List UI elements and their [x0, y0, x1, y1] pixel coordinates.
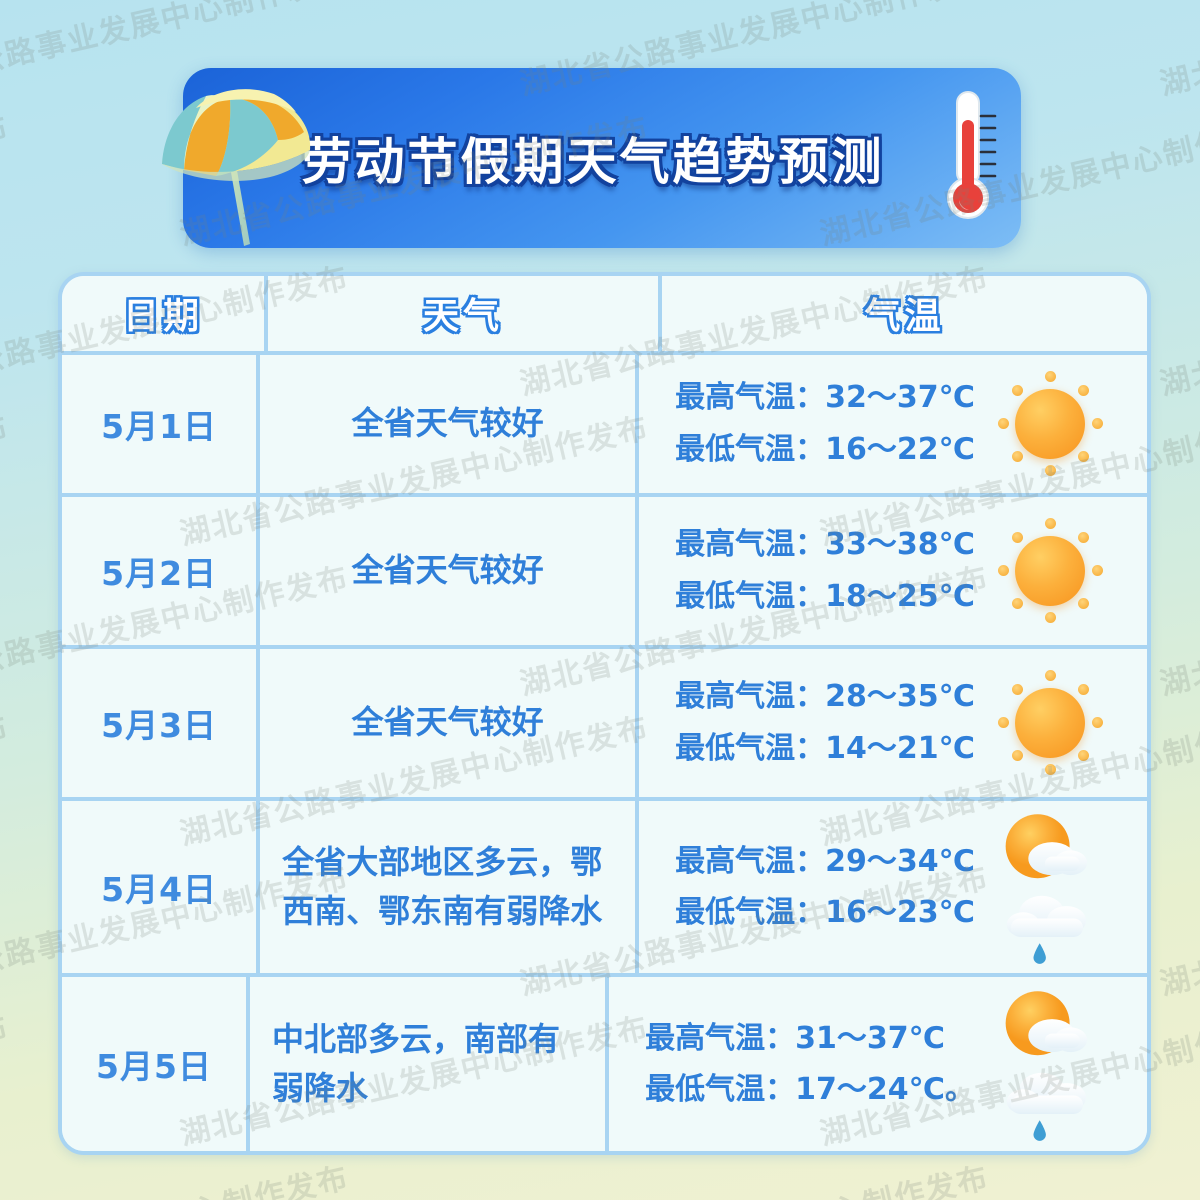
header-label-weather: 天气	[423, 287, 503, 339]
temp-high-label: 最高气温：32～37℃	[675, 372, 975, 424]
header-cell-weather: 天气	[268, 276, 662, 351]
table-row: 5月4日 全省大部地区多云，鄂西南、鄂东南有弱降水 最高气温：29～34℃ 最低…	[62, 801, 1147, 978]
date-label: 5月1日	[101, 400, 217, 448]
table-row: 5月3日 全省天气较好 最高气温：28～35℃ 最低气温：14～21℃	[62, 649, 1147, 801]
cell-date: 5月5日	[62, 977, 250, 1151]
header-label-date: 日期	[123, 287, 203, 339]
temperature-values: 最高气温：31～37℃ 最低气温：17～24℃。	[645, 1013, 975, 1116]
temp-low-label: 最低气温：17～24℃。	[645, 1064, 975, 1116]
cell-weather: 中北部多云，南部有弱降水	[250, 977, 609, 1151]
watermark-text: 湖北省公路事业发展中心制作发布	[0, 703, 13, 854]
table-header-row: 日期 天气 气温	[62, 276, 1147, 355]
cell-date: 5月2日	[62, 497, 260, 645]
watermark-text: 湖北省公路事业发展中心制作发布	[1155, 1153, 1200, 1200]
temperature-values: 最高气温：33～38℃ 最低气温：18～25℃	[675, 519, 975, 622]
watermark-text: 湖北省公路事业发展中心制作发布	[515, 1153, 993, 1200]
watermark-text: 湖北省公路事业发展中心制作发布	[1155, 853, 1200, 1004]
cell-weather: 全省大部地区多云，鄂西南、鄂东南有弱降水	[260, 801, 639, 974]
weather-icon-cell	[975, 801, 1125, 974]
sun-icon	[998, 671, 1102, 775]
weather-label: 中北部多云，南部有弱降水	[250, 1015, 605, 1114]
sun-behind-cloud-and-rain-cloud-icon	[986, 805, 1114, 970]
date-label: 5月4日	[101, 863, 217, 911]
watermark-text: 湖北省公路事业发展中心制作发布	[0, 103, 13, 254]
temp-high-label: 最高气温：28～35℃	[675, 671, 975, 723]
weather-icon-cell	[975, 977, 1125, 1151]
cell-date: 5月4日	[62, 801, 260, 974]
temperature-values: 最高气温：29～34℃ 最低气温：16～23℃	[675, 836, 975, 939]
table-row: 5月5日 中北部多云，南部有弱降水 最高气温：31～37℃ 最低气温：17～24…	[62, 977, 1147, 1151]
weather-icon-cell	[975, 497, 1125, 645]
temperature-values: 最高气温：28～35℃ 最低气温：14～21℃	[675, 671, 975, 774]
page-title: 劳动节假期天气趋势预测	[303, 118, 883, 198]
weather-label: 全省大部地区多云，鄂西南、鄂东南有弱降水	[260, 838, 635, 937]
sun-core	[1015, 688, 1085, 758]
sun-behind-cloud-and-rain-cloud-icon	[986, 982, 1114, 1147]
temp-low-label: 最低气温：16～23℃	[675, 887, 975, 939]
thermometer-icon	[945, 86, 1007, 226]
temp-high-label: 最高气温：29～34℃	[675, 836, 975, 888]
weather-label: 全省天气较好	[260, 698, 635, 748]
watermark-text: 湖北省公路事业发展中心制作发布	[0, 403, 13, 554]
cell-temperature: 最高气温：28～35℃ 最低气温：14～21℃	[639, 649, 1147, 797]
sun-core	[1015, 389, 1085, 459]
table-row: 5月2日 全省天气较好 最高气温：33～38℃ 最低气温：18～25℃	[62, 497, 1147, 649]
watermark-text: 湖北省公路事业发展中心制作发布	[1155, 553, 1200, 704]
temperature-values: 最高气温：32～37℃ 最低气温：16～22℃	[675, 372, 975, 475]
cell-temperature: 最高气温：33～38℃ 最低气温：18～25℃	[639, 497, 1147, 645]
cell-weather: 全省天气较好	[260, 497, 639, 645]
cell-weather: 全省天气较好	[260, 355, 639, 493]
watermark-text: 湖北省公路事业发展中心制作发布	[0, 1153, 353, 1200]
header-label-temperature: 气温	[864, 287, 944, 339]
date-label: 5月3日	[101, 699, 217, 747]
date-label: 5月5日	[96, 1040, 212, 1088]
header-cell-date: 日期	[62, 276, 268, 351]
watermark-text: 湖北省公路事业发展中心制作发布	[1155, 253, 1200, 404]
sun-icon	[998, 519, 1102, 623]
weather-label: 全省天气较好	[260, 546, 635, 596]
cell-date: 5月1日	[62, 355, 260, 493]
temp-low-label: 最低气温：18～25℃	[675, 571, 975, 623]
temp-low-label: 最低气温：14～21℃	[675, 723, 975, 775]
sun-icon	[998, 372, 1102, 476]
weather-label: 全省天气较好	[260, 399, 635, 449]
beach-umbrella-icon	[150, 80, 318, 250]
cell-temperature: 最高气温：29～34℃ 最低气温：16～23℃	[639, 801, 1147, 974]
table-row: 5月1日 全省天气较好 最高气温：32～37℃ 最低气温：16～22℃	[62, 355, 1147, 497]
watermark-text: 湖北省公路事业发展中心制作发布	[1155, 0, 1200, 103]
cell-temperature: 最高气温：31～37℃ 最低气温：17～24℃。	[609, 977, 1147, 1151]
cell-weather: 全省天气较好	[260, 649, 639, 797]
sun-core	[1015, 536, 1085, 606]
temp-high-label: 最高气温：31～37℃	[645, 1013, 975, 1065]
temp-low-label: 最低气温：16～22℃	[675, 424, 975, 476]
cell-date: 5月3日	[62, 649, 260, 797]
date-label: 5月2日	[101, 547, 217, 595]
weather-icon-cell	[975, 355, 1125, 493]
header-cell-temperature: 气温	[662, 276, 1147, 351]
header-banner: 劳动节假期天气趋势预测	[183, 68, 1021, 248]
forecast-table: 日期 天气 气温 5月1日 全省天气较好 最高气温：32～37℃ 最低气温：16…	[58, 272, 1151, 1155]
watermark-text: 湖北省公路事业发展中心制作发布	[0, 1003, 13, 1154]
weather-icon-cell	[975, 649, 1125, 797]
temp-high-label: 最高气温：33～38℃	[675, 519, 975, 571]
cell-temperature: 最高气温：32～37℃ 最低气温：16～22℃	[639, 355, 1147, 493]
